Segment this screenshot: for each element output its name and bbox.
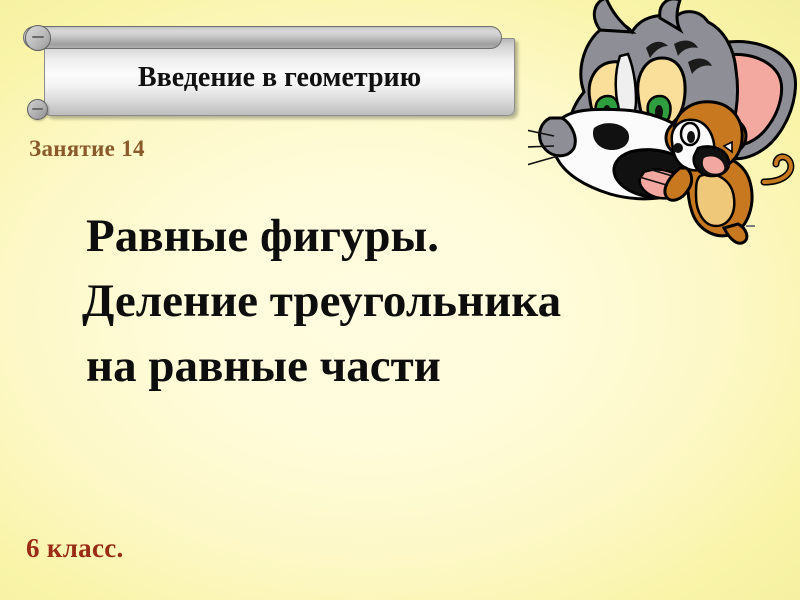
artwork-signature-mark (746, 225, 755, 227)
presentation-slide: Введение в геометрию Занятие 14 Равные ф… (0, 0, 800, 600)
jerry-leg (724, 224, 747, 243)
tom-left-cheek (540, 118, 576, 156)
tom-and-jerry-svg (528, 0, 800, 248)
lesson-number-label: Занятие 14 (29, 136, 145, 162)
title-line-2: Деление треугольника (42, 269, 742, 334)
tom-fur-tuft-left (594, 0, 632, 32)
tom-and-jerry-image (528, 0, 800, 248)
title-line-3: на равные части (42, 334, 742, 399)
jerry-pupil (687, 131, 695, 143)
title-banner: Введение в геометрию (23, 14, 503, 118)
scroll-curl-bottom-icon (27, 99, 48, 120)
jerry-belly (696, 174, 734, 226)
tom-cat-group (528, 0, 795, 202)
banner-title-text: Введение в геометрию (44, 61, 515, 95)
jerry-nose (673, 143, 683, 153)
scroll-curl-top-icon (25, 25, 51, 51)
banner-top-rod (23, 26, 502, 49)
grade-label: 6 класс. (26, 533, 124, 564)
